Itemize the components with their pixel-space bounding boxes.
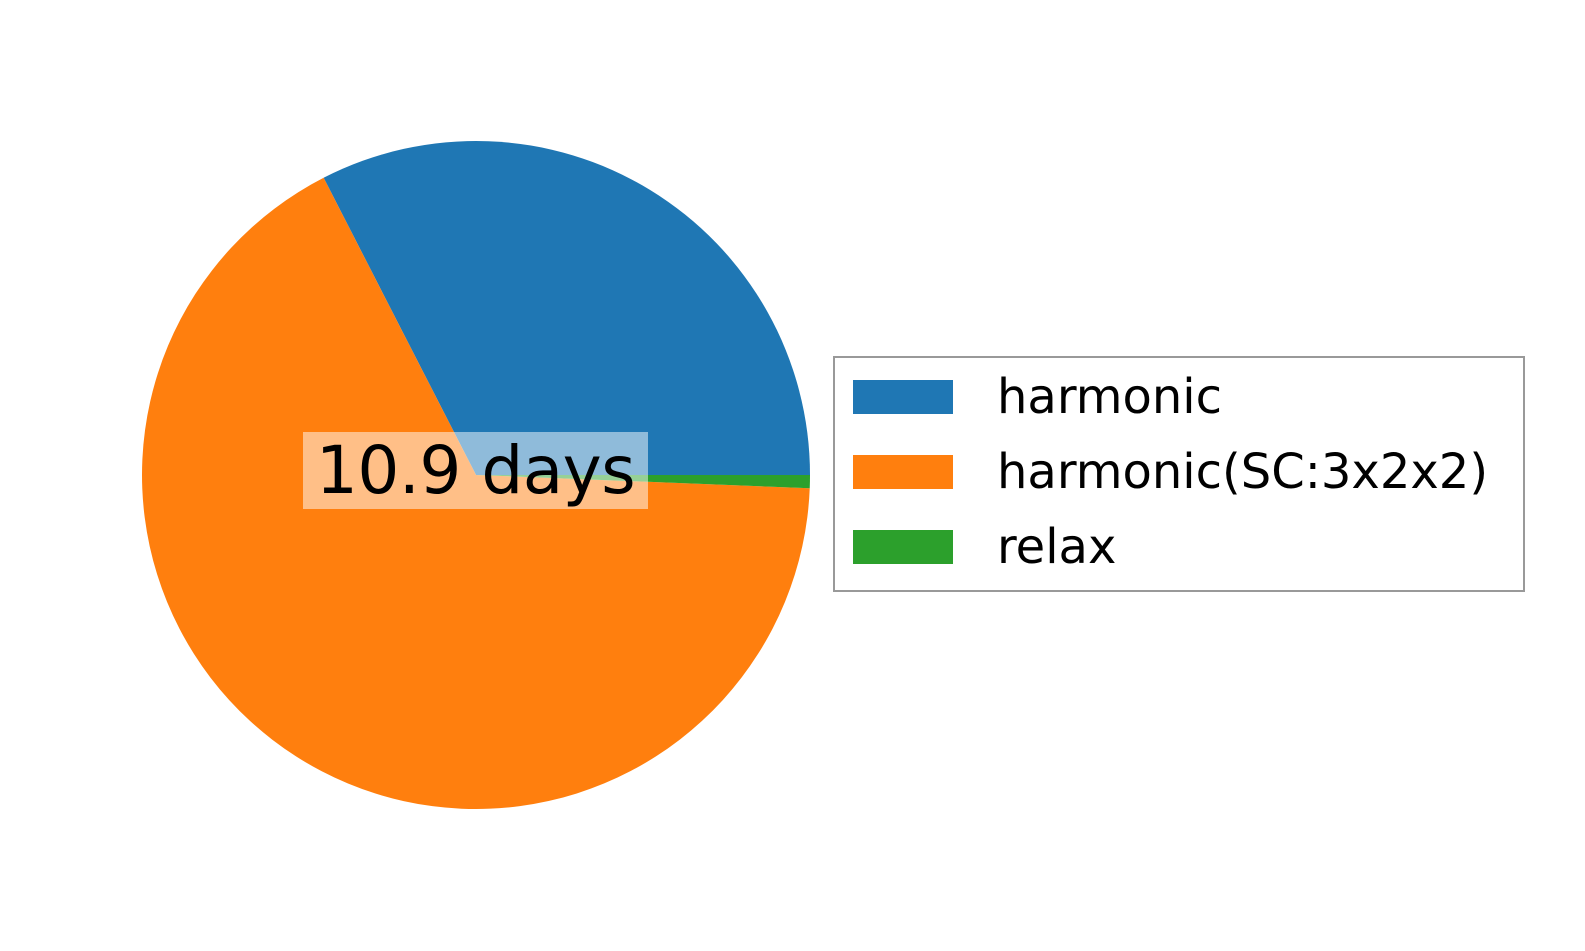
legend-item-harmonic: harmonic (853, 380, 1222, 414)
pie-chart-figure: 10.9 days harmonic harmonic(SC:3x2x2) re… (0, 0, 1585, 951)
legend-label-harmonic: harmonic (997, 373, 1222, 421)
legend-item-harmonic-sc: harmonic(SC:3x2x2) (853, 455, 1488, 489)
legend-swatch-harmonic-sc (853, 455, 953, 489)
legend-swatch-harmonic (853, 380, 953, 414)
legend-item-relax: relax (853, 530, 1116, 564)
legend-label-relax: relax (997, 523, 1116, 571)
pie-center-annotation: 10.9 days (303, 432, 648, 509)
legend-swatch-relax (853, 530, 953, 564)
chart-legend: harmonic harmonic(SC:3x2x2) relax (833, 356, 1525, 592)
pie-center-annotation-text: 10.9 days (316, 438, 635, 504)
legend-label-harmonic-sc: harmonic(SC:3x2x2) (997, 448, 1488, 496)
